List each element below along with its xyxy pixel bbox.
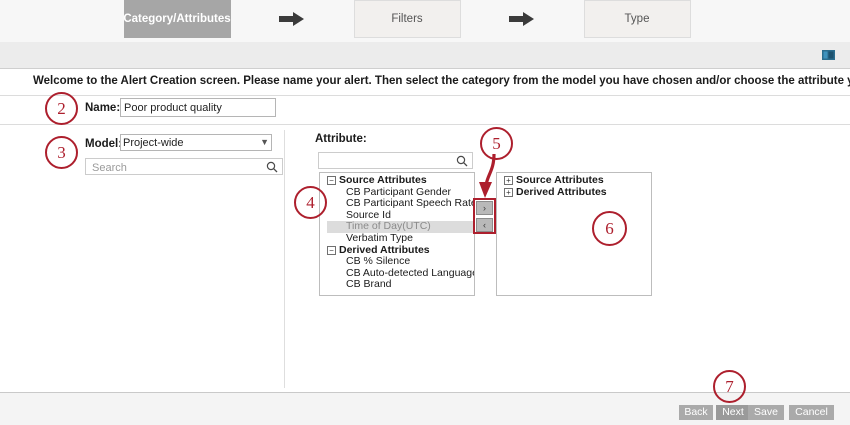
tree-group-label: Source Attributes — [516, 175, 604, 187]
wizard-arrow-2 — [461, 0, 584, 38]
tree-group-label: Derived Attributes — [516, 187, 607, 199]
available-tree: − Source Attributes CB Participant Gende… — [320, 173, 474, 291]
wizard-arrow-1 — [231, 0, 354, 38]
welcome-message: Welcome to the Alert Creation screen. Pl… — [33, 75, 850, 87]
toolbar-band — [0, 42, 850, 69]
model-select[interactable]: Project-wide ▼ — [120, 134, 272, 151]
available-attributes-list[interactable]: − Source Attributes CB Participant Gende… — [319, 172, 475, 296]
attribute-label: Attribute: — [315, 133, 367, 145]
save-button[interactable]: Save — [748, 405, 784, 420]
tree-group-source-attributes[interactable]: − Source Attributes — [327, 175, 474, 187]
tree-item[interactable]: Verbatim Type — [327, 233, 474, 245]
tree-group-derived-attributes[interactable]: + Derived Attributes — [504, 187, 651, 199]
chevron-down-icon: ▼ — [260, 138, 269, 147]
wizard-step-type-label: Type — [625, 13, 650, 25]
tree-group-source-attributes[interactable]: + Source Attributes — [504, 175, 651, 187]
column-divider — [284, 130, 285, 388]
model-select-value: Project-wide — [123, 137, 184, 149]
search-icon[interactable] — [266, 161, 278, 173]
annotation-marker-2: 2 — [45, 92, 78, 125]
name-row: Name: — [0, 96, 850, 125]
annotation-marker-4: 4 — [294, 186, 327, 219]
panel-toggle-icon[interactable] — [822, 49, 835, 59]
add-attribute-button[interactable]: › — [476, 201, 493, 215]
alert-name-input[interactable] — [120, 98, 276, 117]
welcome-row: Welcome to the Alert Creation screen. Pl… — [0, 69, 850, 96]
annotation-marker-6: 6 — [592, 211, 627, 246]
model-search-box[interactable] — [85, 158, 283, 175]
wizard-step-bar: Category/Attributes Filters Type — [0, 0, 850, 42]
wizard-step-category-attributes-label: Category/Attributes — [123, 13, 230, 25]
wizard-step-filters[interactable]: Filters — [354, 0, 461, 38]
name-label: Name: — [85, 102, 120, 114]
tree-item[interactable]: CB Brand — [327, 279, 474, 291]
cancel-button[interactable]: Cancel — [789, 405, 834, 420]
remove-attribute-button[interactable]: ‹ — [476, 218, 493, 232]
attribute-search-box[interactable] — [318, 152, 473, 169]
tree-item[interactable]: CB % Silence — [327, 256, 474, 268]
model-search-input[interactable] — [90, 161, 259, 175]
model-label: Model: — [85, 138, 122, 150]
annotation-marker-3: 3 — [45, 136, 78, 169]
annotation-marker-7: 7 — [713, 370, 746, 403]
collapse-icon[interactable]: − — [327, 176, 336, 185]
wizard-step-category-attributes[interactable]: Category/Attributes — [124, 0, 231, 38]
collapse-icon[interactable]: − — [327, 246, 336, 255]
next-button[interactable]: Next — [716, 405, 750, 420]
attribute-search-input[interactable] — [323, 155, 452, 169]
selected-tree: + Source Attributes + Derived Attributes — [497, 173, 651, 198]
back-button[interactable]: Back — [679, 405, 713, 420]
search-icon[interactable] — [456, 155, 468, 167]
wizard-step-type[interactable]: Type — [584, 0, 691, 38]
selected-attributes-list[interactable]: + Source Attributes + Derived Attributes — [496, 172, 652, 296]
wizard-step-filters-label: Filters — [391, 13, 422, 25]
annotation-arrow-5 — [468, 152, 508, 200]
tree-group-label: Source Attributes — [339, 175, 427, 187]
